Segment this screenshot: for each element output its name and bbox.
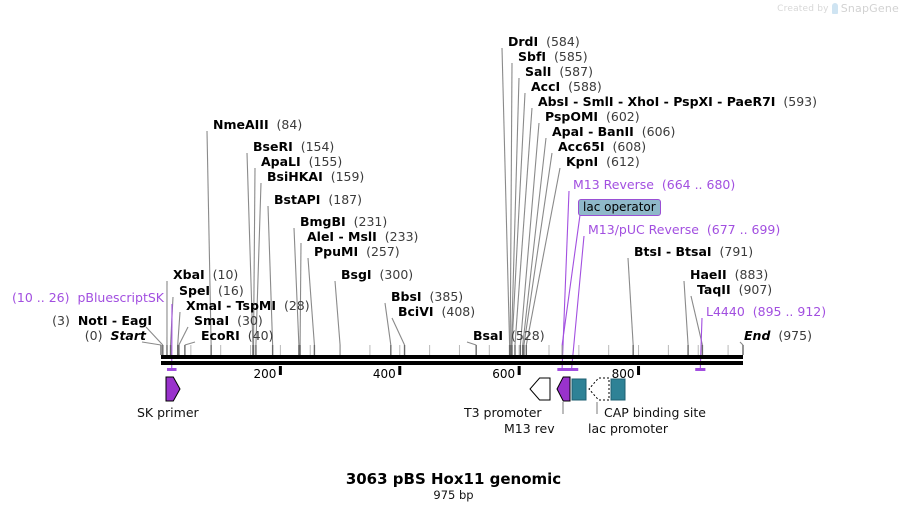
feature-glyph-m13-rev[interactable] [557, 377, 570, 401]
enzyme-position: (28) [284, 298, 310, 313]
enzyme-name: Acc65I [558, 139, 605, 154]
enzyme-position: (907) [739, 282, 773, 297]
enzyme-name: MslI [348, 229, 377, 244]
enzyme-position: (385) [430, 289, 464, 304]
enzyme-position: (159) [331, 169, 365, 184]
terminus-name: End [744, 328, 770, 343]
terminus-name: Start [110, 328, 146, 343]
enzyme-label-bstapi[interactable]: BstAPI (187) [274, 193, 362, 206]
start-label[interactable]: (0) Start [85, 329, 146, 342]
enzyme-name: PaeR7I [727, 94, 776, 109]
enzyme-name-separator: - [713, 94, 727, 109]
enzyme-name: AleI [307, 229, 334, 244]
enzyme-label-xbai[interactable]: XbaI (10) [173, 268, 238, 281]
enzyme-name: BmgBI [300, 214, 346, 229]
enzyme-position: (187) [328, 192, 362, 207]
enzyme-label-acci[interactable]: AccI (588) [531, 80, 602, 93]
snapgene-watermark: Created by SnapGene [777, 2, 899, 15]
enzyme-label-pspomi[interactable]: PspOMI (602) [545, 110, 640, 123]
sequence-backbone [161, 355, 743, 365]
bottom-feature-label-sk-primer[interactable]: SK primer [137, 405, 199, 420]
enzyme-position: (585) [554, 49, 588, 64]
enzyme-name-separator: - [334, 229, 348, 244]
enzyme-name: SpeI [179, 283, 210, 298]
feature-label-m13-puc-reverse[interactable]: M13/pUC Reverse (677 .. 699) [588, 223, 780, 236]
enzyme-name: SmlI [583, 94, 614, 109]
feature-range: (664 .. 680) [662, 177, 735, 192]
enzyme-position: (587) [559, 64, 593, 79]
enzyme-position: (30) [237, 313, 263, 328]
feature-range: (895 .. 912) [753, 304, 826, 319]
enzyme-name: ApaLI [261, 154, 301, 169]
enzyme-name-separator: - [584, 124, 598, 139]
enzyme-name: AccI [531, 79, 560, 94]
ruler-tick-200: 200 [253, 367, 276, 381]
enzyme-name: BseRI [253, 139, 293, 154]
enzyme-name: DrdI [508, 34, 538, 49]
ruler-tick-600: 600 [492, 367, 515, 381]
enzyme-label-bcivi[interactable]: BciVI (408) [398, 305, 475, 318]
enzyme-label-bmgbi[interactable]: BmgBI (231) [300, 215, 387, 228]
enzyme-name: KpnI [566, 154, 598, 169]
terminus-position: (975) [778, 328, 812, 343]
feature-label-pbluescriptsk[interactable]: (10 .. 26) pBluescriptSK [12, 291, 164, 304]
enzyme-name-separator: - [222, 298, 236, 313]
enzyme-label-smai[interactable]: SmaI (30) [194, 314, 263, 327]
enzyme-position: (40) [248, 328, 274, 343]
enzyme-name: EcoRI [201, 328, 240, 343]
feature-range: (10 .. 26) [12, 290, 69, 305]
enzyme-name: BstAPI [274, 192, 320, 207]
enzyme-name: XbaI [173, 267, 205, 282]
enzyme-label-haeii[interactable]: HaeII (883) [690, 268, 768, 281]
enzyme-name-separator: - [108, 313, 122, 328]
enzyme-name: ApaI [552, 124, 584, 139]
enzyme-position: (606) [642, 124, 676, 139]
enzyme-name: PspOMI [545, 109, 598, 124]
page-title: 3063 pBS Hox11 genomic [0, 470, 907, 488]
enzyme-position: (257) [366, 244, 400, 259]
enzyme-name: BsiHKAI [267, 169, 323, 184]
feature-label-l4440[interactable]: L4440 (895 .. 912) [706, 305, 826, 318]
enzyme-name: TaqII [697, 282, 731, 297]
ruler-tick-400: 400 [373, 367, 396, 381]
enzyme-position: (528) [511, 328, 545, 343]
enzyme-label-taqii[interactable]: TaqII (907) [697, 283, 772, 296]
watermark-brand: SnapGene [841, 2, 899, 15]
enzyme-position: (608) [613, 139, 647, 154]
enzyme-label-kpni[interactable]: KpnI (612) [566, 155, 640, 168]
enzyme-name: AbsI [538, 94, 569, 109]
enzyme-position: (231) [354, 214, 388, 229]
enzyme-name: TspMI [236, 298, 276, 313]
enzyme-name: BbsI [391, 289, 422, 304]
enzyme-position: (408) [442, 304, 476, 319]
enzyme-position: (584) [546, 34, 580, 49]
lac-operator-chip[interactable]: lac operator [578, 199, 661, 216]
enzyme-label-bseri[interactable]: BseRI (154) [253, 140, 334, 153]
enzyme-name: BanII [598, 124, 634, 139]
enzyme-position: (155) [309, 154, 343, 169]
bottom-feature-label-m13-rev[interactable]: M13 rev [504, 421, 555, 436]
enzyme-label-bsihkai[interactable]: BsiHKAI (159) [267, 170, 364, 183]
map-graphics-layer [0, 0, 907, 509]
enzyme-position: (588) [568, 79, 602, 94]
enzyme-label-bbsi[interactable]: BbsI (385) [391, 290, 463, 303]
feature-name: pBluescriptSK [77, 290, 164, 305]
enzyme-name: NotI [78, 313, 108, 328]
enzyme-name: SbfI [518, 49, 546, 64]
enzyme-name: SmaI [194, 313, 229, 328]
snapgene-linear-map: Created by SnapGene DrdI (584)SbfI (585)… [0, 0, 907, 509]
enzyme-label-xmai[interactable]: XmaI - TspMI (28) [186, 299, 310, 312]
feature-glyph-sk-primer[interactable] [166, 377, 180, 401]
enzyme-label-btsi[interactable]: BtsI - BtsaI (791) [634, 245, 753, 258]
feature-range: (677 .. 699) [707, 222, 780, 237]
bottom-feature-label-cap-binding-site[interactable]: CAP binding site [604, 405, 706, 420]
enzyme-label-bsgi[interactable]: BsgI (300) [341, 268, 413, 281]
feature-label-m13-reverse[interactable]: M13 Reverse (664 .. 680) [573, 178, 735, 191]
enzyme-label-nmeaiii[interactable]: NmeAIII (84) [213, 118, 302, 131]
enzyme-label-acc65i[interactable]: Acc65I (608) [558, 140, 646, 153]
enzyme-label-ppumi[interactable]: PpuMI (257) [314, 245, 400, 258]
enzyme-name: HaeII [690, 267, 727, 282]
enzyme-label-sali[interactable]: SalI (587) [525, 65, 593, 78]
enzyme-position: (612) [606, 154, 640, 169]
enzyme-label-bsai[interactable]: BsaI (528) [473, 329, 545, 342]
enzyme-name: BciVI [398, 304, 434, 319]
feature-glyph-t3-promoter[interactable] [530, 378, 550, 400]
bottom-feature-label-lac-promoter[interactable]: lac promoter [588, 421, 668, 436]
feature-name: M13/pUC Reverse [588, 222, 699, 237]
bottom-feature-label-t3-promoter[interactable]: T3 promoter [464, 405, 542, 420]
enzyme-label-apali[interactable]: ApaLI (155) [261, 155, 342, 168]
enzyme-position: (300) [380, 267, 414, 282]
enzyme-name: BsgI [341, 267, 372, 282]
enzyme-name: EagI [121, 313, 152, 328]
enzyme-name: BtsI [634, 244, 662, 259]
lac-operator-label: lac operator [583, 200, 656, 214]
enzyme-name: PpuMI [314, 244, 358, 259]
enzyme-name: SalI [525, 64, 551, 79]
enzyme-name: NmeAIII [213, 117, 269, 132]
snapgene-logo-icon [832, 3, 838, 14]
enzyme-name-separator: - [662, 244, 676, 259]
enzyme-position: (602) [606, 109, 640, 124]
enzyme-position: (233) [385, 229, 419, 244]
enzyme-position: (84) [277, 117, 303, 132]
enzyme-name-separator: - [659, 94, 673, 109]
end-label[interactable]: End (975) [744, 329, 812, 342]
terminus-position: (0) [85, 328, 103, 343]
feature-glyph-lac-promoter[interactable] [572, 379, 586, 400]
page-subtitle: 975 bp [0, 488, 907, 502]
enzyme-site-ticks [161, 345, 743, 355]
enzyme-position: (3) [52, 313, 70, 328]
enzyme-label-spei[interactable]: SpeI (16) [179, 284, 244, 297]
enzyme-name-separator: - [569, 94, 583, 109]
enzyme-position: (16) [218, 283, 244, 298]
enzyme-position: (593) [783, 94, 817, 109]
enzyme-name: BsaI [473, 328, 503, 343]
feature-glyph-cap-binding-site[interactable] [611, 379, 625, 400]
enzyme-label-apai[interactable]: ApaI - BanII (606) [552, 125, 675, 138]
enzyme-label-ecori[interactable]: EcoRI (40) [201, 329, 273, 342]
feature-name: M13 Reverse [573, 177, 654, 192]
enzyme-position: (154) [301, 139, 335, 154]
watermark-prefix: Created by [777, 4, 829, 14]
feature-glyph-dashed-arrow-left[interactable] [589, 378, 609, 400]
enzyme-label-alei[interactable]: AleI - MslI (233) [307, 230, 418, 243]
enzyme-position: (791) [720, 244, 754, 259]
enzyme-position: (883) [735, 267, 769, 282]
bottom-feature-connectors [563, 402, 597, 414]
enzyme-label-drdi[interactable]: DrdI (584) [508, 35, 580, 48]
enzyme-name: PspXI [673, 94, 713, 109]
enzyme-position: (10) [213, 267, 239, 282]
enzyme-label-absi[interactable]: AbsI - SmlI - XhoI - PspXI - PaeR7I (593… [538, 95, 817, 108]
enzyme-label-sbfi[interactable]: SbfI (585) [518, 50, 588, 63]
ruler-tick-800: 800 [612, 367, 635, 381]
feature-name: L4440 [706, 304, 745, 319]
enzyme-name-separator: - [614, 94, 628, 109]
enzyme-label-noti[interactable]: (3) NotI - EagI [52, 314, 152, 327]
enzyme-name: XhoI [628, 94, 660, 109]
enzyme-name: BtsaI [676, 244, 712, 259]
enzyme-name: XmaI [186, 298, 222, 313]
